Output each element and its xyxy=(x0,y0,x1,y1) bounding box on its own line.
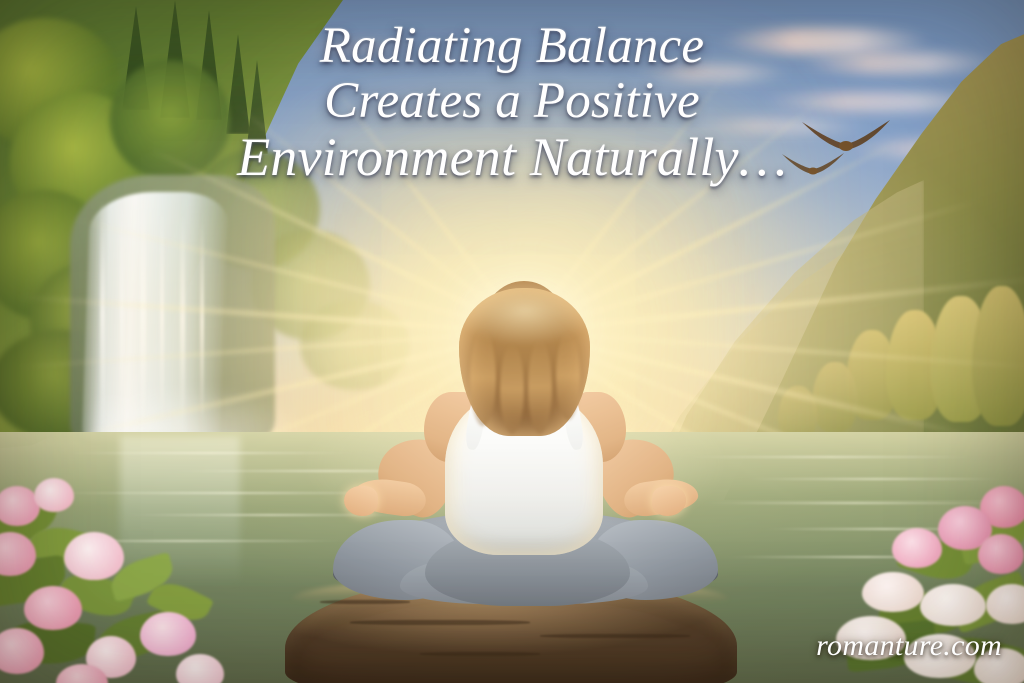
vignette xyxy=(0,0,1024,683)
watermark-url: romanture.com xyxy=(816,629,1002,663)
image-canvas: Radiating Balance Creates a Positive Env… xyxy=(0,0,1024,683)
